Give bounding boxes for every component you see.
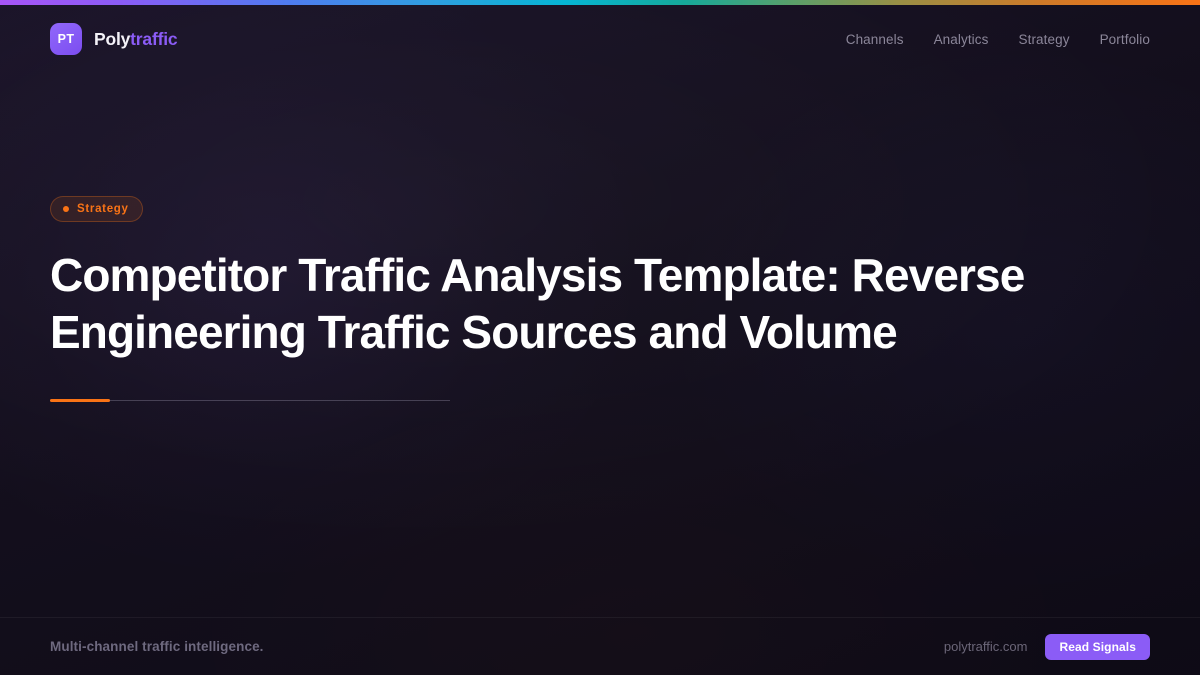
read-signals-button[interactable]: Read Signals xyxy=(1045,634,1150,660)
brand-wordmark-accent: traffic xyxy=(130,29,177,49)
nav-item-portfolio[interactable]: Portfolio xyxy=(1100,32,1150,47)
category-badge-label: Strategy xyxy=(77,203,129,215)
hero-section: Strategy Competitor Traffic Analysis Tem… xyxy=(50,196,1060,402)
primary-nav: Channels Analytics Strategy Portfolio xyxy=(846,32,1150,47)
nav-item-analytics[interactable]: Analytics xyxy=(934,32,989,47)
brand-wordmark: Polytraffic xyxy=(94,29,177,50)
category-badge[interactable]: Strategy xyxy=(50,196,143,222)
title-underline-rule xyxy=(50,399,450,402)
status-dot-icon xyxy=(63,206,69,212)
brand-mark-icon: PT xyxy=(50,23,82,55)
rule-accent-segment xyxy=(50,399,110,402)
rule-thin-line xyxy=(50,400,450,401)
footer-tagline: Multi-channel traffic intelligence. xyxy=(50,639,264,654)
footer-domain-label: polytraffic.com xyxy=(944,639,1028,654)
nav-item-channels[interactable]: Channels xyxy=(846,32,904,47)
site-footer: Multi-channel traffic intelligence. poly… xyxy=(0,618,1200,675)
page-title: Competitor Traffic Analysis Template: Re… xyxy=(50,247,1030,361)
footer-actions: polytraffic.com Read Signals xyxy=(944,634,1150,660)
brand-wordmark-primary: Poly xyxy=(94,29,130,49)
brand-logo[interactable]: PT Polytraffic xyxy=(50,23,177,55)
site-header: PT Polytraffic Channels Analytics Strate… xyxy=(0,5,1200,73)
nav-item-strategy[interactable]: Strategy xyxy=(1018,32,1069,47)
top-gradient-accent-bar xyxy=(0,0,1200,5)
